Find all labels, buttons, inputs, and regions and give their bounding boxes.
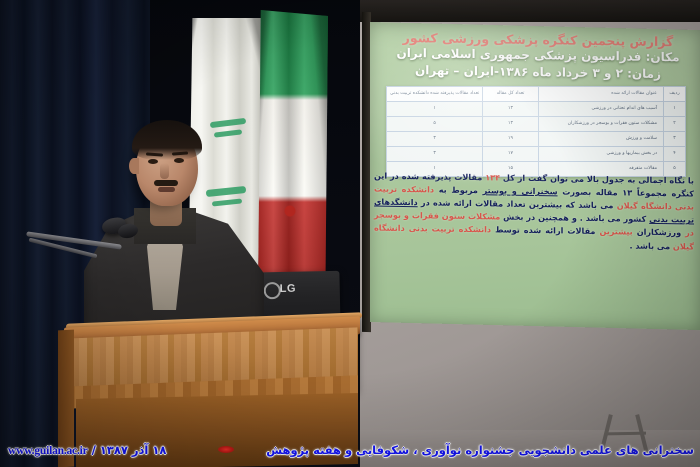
para-part-7: مقالات ارائه شده توسط	[495, 225, 595, 237]
slide-results-table: ردیف عنوان مقالات ارائه شده تعداد کل مقا…	[386, 86, 686, 177]
cell-title: آسیب های اندام تحتانی در ورزشی	[538, 102, 663, 117]
para-part-8: می باشد .	[629, 240, 670, 251]
cell-total: ۱۷	[483, 147, 539, 162]
cell-total: ۱۹	[483, 132, 539, 147]
cell-index: ۳	[664, 132, 686, 147]
cell-index: ۲	[664, 117, 686, 132]
table-row: ۱ آسیب های اندام تحتانی در ورزشی ۱۳ ۱	[387, 102, 686, 117]
cell-accepted: ۱	[387, 102, 483, 117]
para-part-5: کشور می باشد . و همچنین در بخش	[503, 212, 646, 224]
slide-summary-paragraph: با نگاه اجمالی به جدول بالا می توان گفت …	[374, 170, 694, 254]
projection-screen: گزارش پنجمین کنگره پزشکی ورزشی کشور مکان…	[370, 22, 700, 330]
speaker-eye	[148, 159, 158, 164]
cell-accepted: ۵	[387, 117, 483, 132]
para-part-6: ورزشکاران	[637, 227, 681, 238]
column-header-accepted: تعداد مقالات پذیرفته شده دانشکده تربیت ب…	[387, 87, 483, 102]
screenshot-frame: گزارش پنجمین کنگره پزشکی ورزشی کشور مکان…	[0, 0, 700, 467]
table-row: ۲ مشکلات ستون فقرات و بوسجر در ورزشکاران…	[387, 117, 686, 132]
ceiling-strip	[360, 0, 700, 22]
speaker-nose	[160, 163, 169, 179]
table-row: ۴ در بخش بیماریها و ورزشی ۱۷ ۳	[387, 147, 686, 162]
speaker-ear	[129, 158, 139, 174]
para-total-count: ۱۳۴	[485, 172, 500, 182]
table-row: ۳ سلامت و ورزش ۱۹ ۳	[387, 132, 686, 147]
monitor-brand-label: LG	[280, 283, 297, 295]
para-part-4: می باشد که بیشترین تعداد مقالات ارائه شد…	[421, 197, 614, 210]
para-part-1: با نگاه اجمالی به جدول بالا می توان گفت …	[503, 173, 694, 186]
iran-flag-emblem	[278, 200, 302, 222]
slide-time-line: زمان: ۲ و ۳ خرداد ماه ۱۳۸۶-ایران – تهران	[388, 63, 688, 82]
cell-accepted: ۳	[387, 147, 483, 162]
cell-total: ۱۳	[483, 117, 539, 132]
speaker-mustache	[154, 180, 178, 186]
cell-index: ۴	[664, 147, 686, 162]
cell-title: سلامت و ورزش	[538, 132, 663, 147]
caption-source-line: ۱۸ آذر ۱۳۸۷ / www.guilan.ac.ir	[8, 443, 166, 457]
lg-logo-icon	[264, 282, 281, 299]
para-part-3: مربوط به	[439, 185, 478, 196]
laser-pointer-dot	[218, 446, 234, 453]
iran-flag	[258, 10, 328, 310]
para-highlight-3: بیشترین	[599, 226, 632, 237]
caption-date: ۱۸ آذر ۱۳۸۷	[100, 443, 167, 457]
table-header-row: ردیف عنوان مقالات ارائه شده تعداد کل مقا…	[387, 87, 686, 102]
caption-website-url[interactable]: www.guilan.ac.ir	[8, 445, 88, 457]
speaker-hair	[132, 120, 202, 160]
cell-title: در بخش بیماریها و ورزشی	[538, 147, 663, 162]
caption-separator: /	[92, 443, 96, 457]
cell-total: ۱۳	[483, 102, 539, 117]
column-header-total: تعداد کل مقاله	[483, 87, 539, 102]
cell-title: مشکلات ستون فقرات و بوسجر در ورزشکاران	[538, 117, 663, 132]
speaker-eye	[174, 158, 184, 163]
cell-index: ۱	[664, 102, 686, 117]
para-underline-1: سخنرانی و پوستر	[483, 185, 558, 196]
column-header-index: ردیف	[664, 87, 686, 102]
speaker-mouth	[158, 187, 175, 192]
column-header-title: عنوان مقالات ارائه شده	[538, 87, 663, 102]
cell-accepted: ۳	[387, 132, 483, 147]
caption-event-title: سخنرانی های علمی دانشجویی جشنواره نوآوری…	[266, 443, 694, 457]
